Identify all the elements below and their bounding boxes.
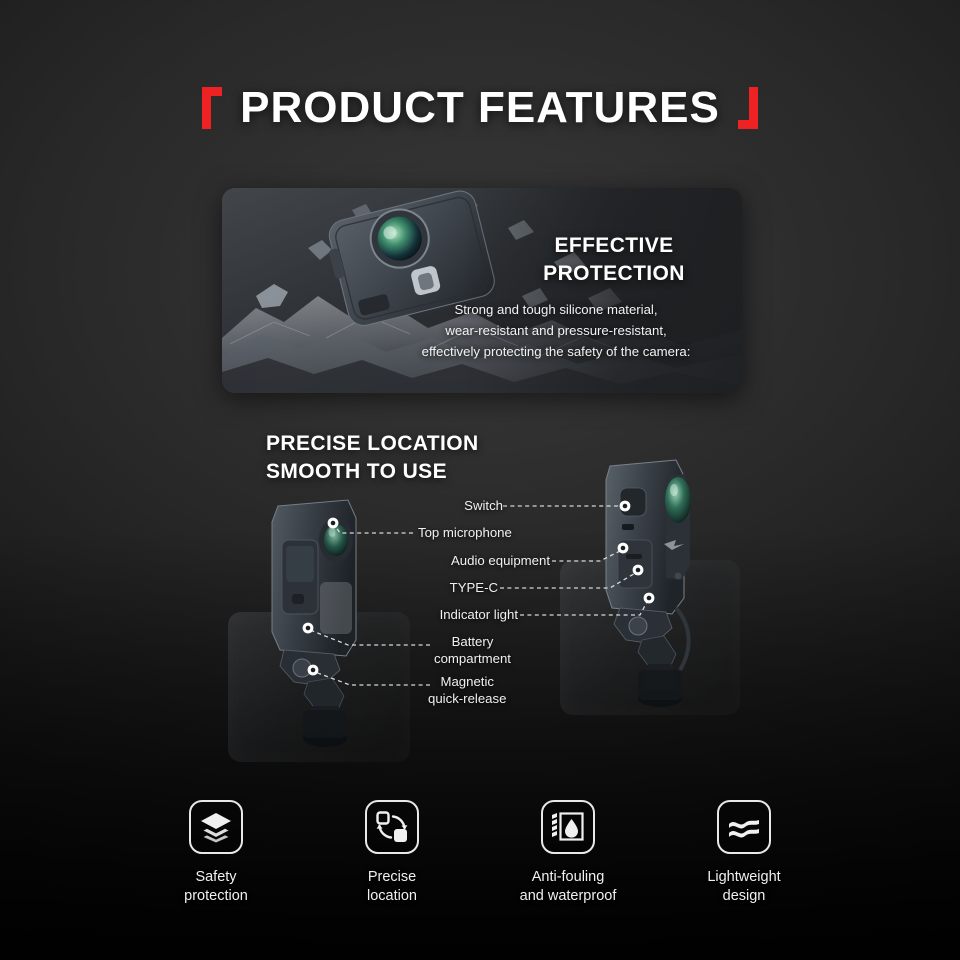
feature-caption: Anti-fouling and waterproof (520, 868, 617, 906)
card-body-text: Strong and tough silicone material, wear… (372, 300, 740, 363)
feature-caption: Safety protection (184, 868, 248, 906)
callout-label-switch: Switch (373, 498, 503, 515)
card-heading: EFFECTIVE PROTECTION (494, 232, 734, 288)
card-heading-line2: PROTECTION (494, 260, 734, 288)
callout-label-magnetic-quick-release: Magnetic quick-release (428, 674, 506, 707)
card-body-line2: wear-resistant and pressure-resistant, (372, 321, 740, 342)
waves-icon-glyph (727, 815, 761, 839)
infographic-page: PRODUCT FEATURES (0, 0, 960, 960)
page-title-row: PRODUCT FEATURES (0, 86, 960, 130)
feature-item-precise-location: Precise location (332, 800, 452, 906)
effective-protection-card: EFFECTIVE PROTECTION Strong and tough si… (222, 188, 742, 393)
feature-caption: Precise location (367, 868, 417, 906)
callout-label-battery-compartment: Battery compartment (434, 634, 511, 667)
layers-icon-glyph (199, 811, 233, 843)
card-body-line1: Strong and tough silicone material, (372, 300, 740, 321)
card-body-line3: effectively protecting the safety of the… (372, 342, 740, 363)
section-heading: PRECISE LOCATION SMOOTH TO USE (266, 430, 479, 486)
card-heading-line1: EFFECTIVE (494, 232, 734, 260)
bracket-right-icon (738, 87, 758, 129)
callout-label-audio-equipment: Audio equipment (402, 553, 550, 570)
parts-diagram: Switch Top microphone Audio equipment TY… (0, 440, 960, 790)
section-heading-line2: SMOOTH TO USE (266, 458, 479, 486)
page-title: PRODUCT FEATURES (240, 86, 720, 130)
layers-icon (189, 800, 243, 854)
callout-label-indicator-light: Indicator light (390, 607, 518, 624)
bracket-left-icon (202, 87, 222, 129)
feature-item-lightweight-design: Lightweight design (684, 800, 804, 906)
feature-item-safety-protection: Safety protection (156, 800, 276, 906)
rotate-squares-icon-glyph (375, 810, 409, 844)
callout-label-top-microphone: Top microphone (418, 525, 512, 542)
feature-caption: Lightweight design (707, 868, 780, 906)
waves-icon (717, 800, 771, 854)
callout-label-type-c: TYPE-C (370, 580, 498, 597)
feature-icon-row: Safety protection Precise location (0, 800, 960, 940)
rotate-squares-icon (365, 800, 419, 854)
feature-item-anti-fouling-waterproof: Anti-fouling and waterproof (508, 800, 628, 906)
section-heading-line1: PRECISE LOCATION (266, 430, 479, 458)
water-droplet-icon (541, 800, 595, 854)
water-droplet-icon-glyph (551, 811, 585, 843)
